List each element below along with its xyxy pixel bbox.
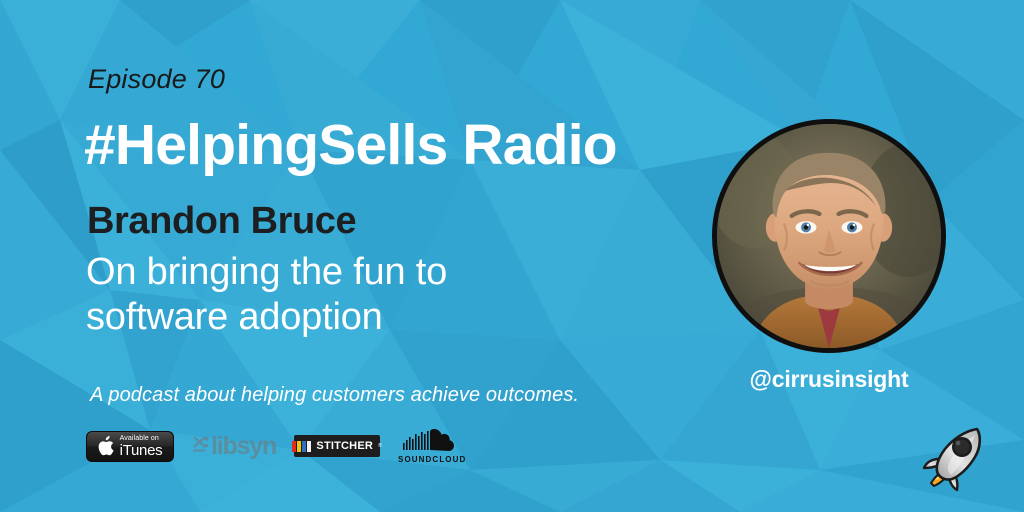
soundcloud-label: SOUNDCLOUD bbox=[398, 456, 466, 464]
libsyn-label: libsyn bbox=[211, 434, 276, 459]
stitcher-bars-icon bbox=[292, 441, 311, 452]
podcast-tagline: A podcast about helping customers achiev… bbox=[90, 384, 579, 407]
guest-handle: @cirrusinsight bbox=[712, 366, 946, 393]
episode-subtitle: On bringing the fun to software adoption bbox=[86, 250, 556, 340]
stitcher-badge[interactable]: STITCHER ® bbox=[294, 435, 380, 457]
guest-photo bbox=[717, 124, 941, 348]
avatar bbox=[712, 119, 946, 353]
itunes-available-label: Available on bbox=[120, 435, 163, 442]
podcast-episode-graphic: Episode 70 #HelpingSells Radio Brandon B… bbox=[0, 0, 1024, 512]
show-title: #HelpingSells Radio bbox=[84, 112, 617, 178]
itunes-badge[interactable]: Available on iTunes bbox=[86, 431, 174, 462]
stitcher-label: STITCHER bbox=[316, 440, 373, 452]
libsyn-icon bbox=[192, 435, 209, 457]
stitcher-trademark: ® bbox=[378, 443, 382, 449]
guest-name: Brandon Bruce bbox=[87, 200, 356, 243]
itunes-label: iTunes bbox=[120, 443, 163, 458]
apple-icon bbox=[98, 436, 115, 456]
rocket-icon bbox=[917, 419, 995, 497]
soundcloud-cloud-icon bbox=[403, 429, 461, 455]
episode-label: Episode 70 bbox=[88, 64, 225, 95]
soundcloud-badge[interactable]: SOUNDCLOUD bbox=[398, 429, 466, 464]
libsyn-badge[interactable]: libsyn bbox=[192, 434, 276, 459]
podcast-platform-badges: Available on iTunes libsyn bbox=[86, 424, 466, 468]
